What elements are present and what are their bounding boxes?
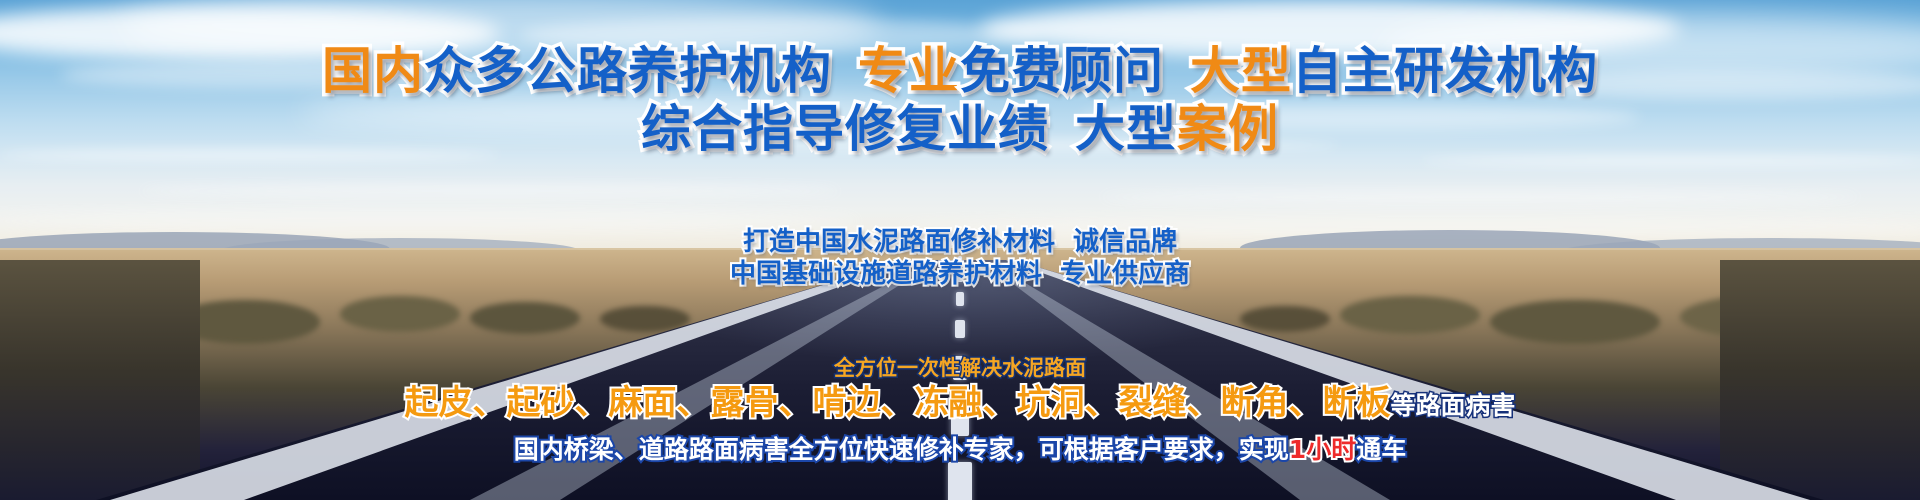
headline-seg-zhongduo: 众多公路养护机构 bbox=[424, 42, 832, 100]
bottom-promise-b: 通车 bbox=[1356, 435, 1406, 464]
headline-seg-anli: 案例 bbox=[1177, 100, 1279, 158]
headline-seg-zonghe: 综合指导修复业绩 bbox=[641, 100, 1049, 158]
bottom-defects-line: 起皮、起砂、麻面、露骨、啃边、冻融、坑洞、裂缝、断角、断板等路面病害 bbox=[0, 382, 1920, 427]
bottom-defects-list: 起皮、起砂、麻面、露骨、啃边、冻融、坑洞、裂缝、断角、断板 bbox=[404, 383, 1390, 423]
subheadline-1b: 诚信品牌 bbox=[1073, 227, 1177, 257]
promo-banner: 国内众多公路养护机构专业免费顾问大型自主研发机构 综合指导修复业绩大型案例 打造… bbox=[0, 0, 1920, 500]
headline-line-2: 综合指导修复业绩大型案例 bbox=[0, 100, 1920, 158]
bottom-intro-line: 全方位一次性解决水泥路面 bbox=[0, 355, 1920, 381]
bottom-promise-highlight: 1小时 bbox=[1289, 435, 1356, 464]
headline-seg-daxing: 大型 bbox=[1190, 42, 1292, 100]
text-layer: 国内众多公路养护机构专业免费顾问大型自主研发机构 综合指导修复业绩大型案例 打造… bbox=[0, 0, 1920, 500]
headline-seg-zhuanye: 专业 bbox=[858, 42, 960, 100]
subheadline-2a: 中国基础设施道路养护材料 bbox=[730, 259, 1042, 289]
headline-seg-guonei: 国内 bbox=[322, 42, 424, 100]
headline-seg-mianfei: 免费顾问 bbox=[960, 42, 1164, 100]
subheadline-2b: 专业供应商 bbox=[1060, 259, 1190, 289]
bottom-defects-tail: 等路面病害 bbox=[1390, 391, 1515, 420]
headline-line-1: 国内众多公路养护机构专业免费顾问大型自主研发机构 bbox=[0, 42, 1920, 100]
headline-seg-daxing2: 大型 bbox=[1075, 100, 1177, 158]
subheadline-line-1: 打造中国水泥路面修补材料诚信品牌 bbox=[0, 225, 1920, 259]
subheadline-1a: 打造中国水泥路面修补材料 bbox=[743, 227, 1055, 257]
bottom-promise-line: 国内桥梁、道路路面病害全方位快速修补专家，可根据客户要求，实现1小时通车 bbox=[0, 434, 1920, 466]
subheadline-line-2: 中国基础设施道路养护材料专业供应商 bbox=[0, 257, 1920, 291]
headline-seg-zizhu: 自主研发机构 bbox=[1292, 42, 1598, 100]
bottom-promise-a: 国内桥梁、道路路面病害全方位快速修补专家，可根据客户要求，实现 bbox=[514, 435, 1289, 464]
